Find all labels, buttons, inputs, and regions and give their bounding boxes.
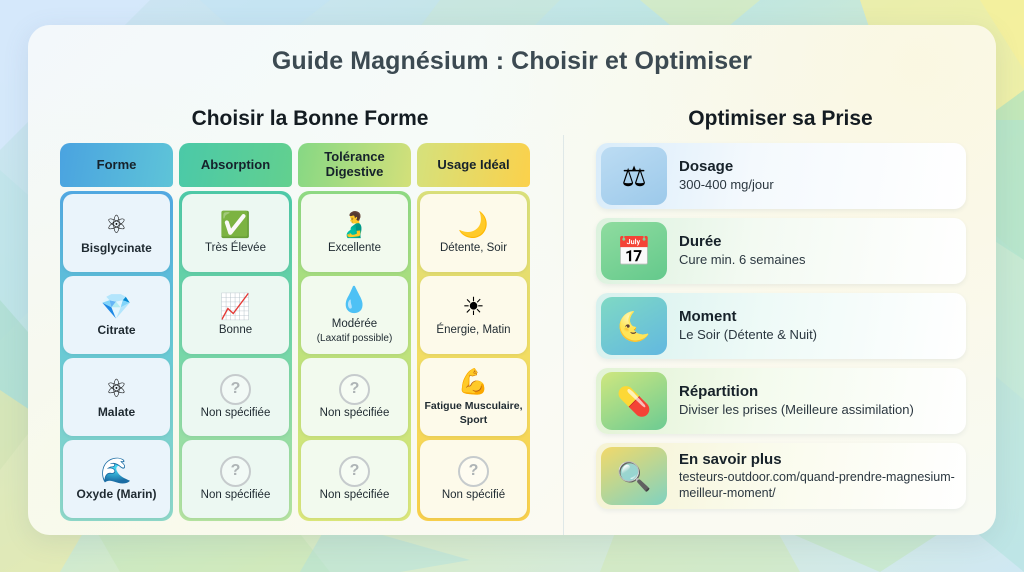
table-column-forme: Forme ⚛ Bisglycinate 💎 Citrate ⚛ Malate … [60,143,173,521]
capsule-split-icon: 💊 [601,372,667,430]
stomach-leaf-icon: 🫃 [339,210,370,240]
column-body-forme: ⚛ Bisglycinate 💎 Citrate ⚛ Malate 🌊 Oxyd… [60,191,173,521]
tip-subtitle: Diviser les prises (Meilleure assimilati… [679,402,956,418]
left-panel-heading: Choisir la Bonne Forme [60,107,560,131]
table-cell[interactable]: ⚛ Malate [63,358,170,436]
cell-label: Citrate [97,324,135,338]
sleeping-moon-icon: 🌙 [458,210,489,240]
flexed-biceps-icon: 💪 [458,368,489,398]
page-title: Guide Magnésium : Choisir et Optimiser [28,47,996,76]
table-cell[interactable]: 💧 Modérée (Laxatif possible) [301,276,408,354]
column-header-absorption: Absorption [179,143,292,187]
cell-label: Fatigue Musculaire, [424,400,522,412]
optimisation-tips-list: ⚖ Dosage 300-400 mg/jour 📅 Durée Cure mi… [596,143,966,509]
cell-label: Modérée [332,318,377,331]
column-body-tolerance: 🫃 Excellente 💧 Modérée (Laxatif possible… [298,191,411,521]
cell-label: Énergie, Matin [436,324,510,337]
table-cell[interactable]: 🌙 Détente, Soir [420,194,527,272]
table-cell[interactable]: ? Non spécifiée [182,358,289,436]
table-column-usage-ideal: Usage Idéal 🌙 Détente, Soir ☀ Énergie, M… [417,143,530,521]
cell-sublabel: Sport [460,414,487,426]
tip-text: En savoir plus testeurs-outdoor.com/quan… [679,451,966,502]
tip-card-moment[interactable]: 🌜 Moment Le Soir (Détente & Nuit) [596,293,966,359]
table-cell[interactable]: ? Non spécifiée [301,440,408,518]
question-mark-icon: ? [458,456,489,487]
table-cell[interactable]: 🌊 Oxyde (Marin) [63,440,170,518]
tip-text: Durée Cure min. 6 semaines [679,233,966,268]
table-cell[interactable]: ? Non spécifié [420,440,527,518]
tip-subtitle: Le Soir (Détente & Nuit) [679,327,956,343]
cell-label: Très Élevée [205,242,266,255]
table-cell[interactable]: ? Non spécifiée [301,358,408,436]
ocean-wave-icon: 🌊 [101,456,132,486]
magnifier-link-icon: 🔍 [601,447,667,505]
table-cell[interactable]: 💎 Citrate [63,276,170,354]
table-cell[interactable]: ✅ Très Élevée [182,194,289,272]
cell-label: Non spécifiée [320,489,390,502]
tip-title: Durée [679,233,956,251]
cell-label: Malate [98,406,135,420]
infographic-card: Guide Magnésium : Choisir et Optimiser C… [28,25,996,535]
column-body-usage: 🌙 Détente, Soir ☀ Énergie, Matin 💪 Fatig… [417,191,530,521]
cell-label: Bisglycinate [81,242,152,256]
cell-label: Non spécifiée [201,489,271,502]
table-column-tolerance-digestive: Tolérance Digestive 🫃 Excellente 💧 Modér… [298,143,411,521]
cell-label: Oxyde (Marin) [76,488,156,502]
tip-title: Dosage [679,158,956,176]
crystal-icon: 💎 [101,292,132,322]
calendar-hourglass-icon: 📅 [601,222,667,280]
tip-title: Répartition [679,383,956,401]
tip-subtitle: Cure min. 6 semaines [679,252,956,268]
moon-clock-icon: 🌜 [601,297,667,355]
trend-up-chart-icon: 📈 [220,292,251,322]
cell-label: Non spécifiée [201,407,271,420]
column-header-usage-ideal: Usage Idéal [417,143,530,187]
column-header-forme: Forme [60,143,173,187]
tip-card-dosage[interactable]: ⚖ Dosage 300-400 mg/jour [596,143,966,209]
molecule-leaf-icon: ⚛ [105,210,127,240]
table-cell[interactable]: 💪 Fatigue Musculaire, Sport [420,358,527,436]
table-cell[interactable]: ☀ Énergie, Matin [420,276,527,354]
question-mark-icon: ? [339,374,370,405]
table-column-absorption: Absorption ✅ Très Élevée 📈 Bonne ? Non s… [179,143,292,521]
cell-label: Non spécifié [442,489,505,502]
tip-card-repartition[interactable]: 💊 Répartition Diviser les prises (Meille… [596,368,966,434]
tip-title: Moment [679,308,956,326]
question-mark-icon: ? [220,456,251,487]
panel-divider [563,135,564,535]
table-cell[interactable]: ? Non spécifiée [182,440,289,518]
tip-text: Dosage 300-400 mg/jour [679,158,966,193]
tip-subtitle: 300-400 mg/jour [679,177,956,193]
table-cell[interactable]: 📈 Bonne [182,276,289,354]
table-cell[interactable]: 🫃 Excellente [301,194,408,272]
sun-energy-icon: ☀ [462,292,484,322]
balance-scale-icon: ⚖ [601,147,667,205]
table-cell[interactable]: ⚛ Bisglycinate [63,194,170,272]
question-mark-icon: ? [339,456,370,487]
cell-label: Détente, Soir [440,242,507,255]
cell-label: Excellente [328,242,381,255]
molecule-icon: ⚛ [105,374,127,404]
cell-sublabel: (Laxatif possible) [317,333,393,345]
tip-title: En savoir plus [679,451,956,469]
cell-label: Non spécifiée [320,407,390,420]
question-mark-icon: ? [220,374,251,405]
tip-card-duree[interactable]: 📅 Durée Cure min. 6 semaines [596,218,966,284]
tip-text: Répartition Diviser les prises (Meilleur… [679,383,966,418]
water-drop-warning-icon: 💧 [339,286,370,316]
tip-card-en-savoir-plus[interactable]: 🔍 En savoir plus testeurs-outdoor.com/qu… [596,443,966,509]
right-panel-heading: Optimiser sa Prise [573,107,988,131]
cell-label: Bonne [219,324,252,337]
check-circle-icon: ✅ [220,210,251,240]
tip-text: Moment Le Soir (Détente & Nuit) [679,308,966,343]
column-body-absorption: ✅ Très Élevée 📈 Bonne ? Non spécifiée ? … [179,191,292,521]
tip-url[interactable]: testeurs-outdoor.com/quand-prendre-magne… [679,470,956,502]
column-header-tolerance-digestive: Tolérance Digestive [298,143,411,187]
forms-comparison-table: Forme ⚛ Bisglycinate 💎 Citrate ⚛ Malate … [60,143,548,521]
